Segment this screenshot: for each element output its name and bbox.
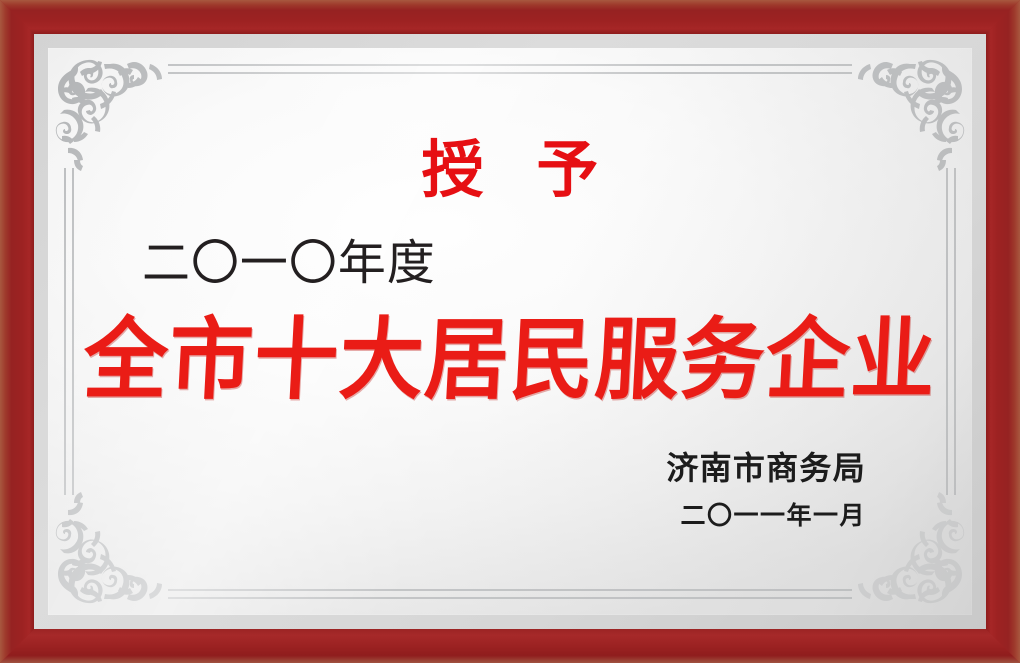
frame-left-edge	[0, 0, 34, 663]
certificate-panel: 授 予 二〇一〇年度 全市十大居民服务企业 济南市商务局 二〇一一年一月	[48, 48, 972, 615]
frame-right-edge	[986, 0, 1020, 663]
frame-top-edge	[0, 0, 1020, 34]
certificate-content: 授 予 二〇一〇年度 全市十大居民服务企业 济南市商务局 二〇一一年一月	[48, 48, 972, 615]
award-title-text: 全市十大居民服务企业	[48, 313, 972, 406]
award-year-text: 二〇一〇年度	[142, 240, 436, 288]
award-plaque: 授 予 二〇一〇年度 全市十大居民服务企业 济南市商务局 二〇一一年一月	[0, 0, 1020, 663]
frame-bottom-edge	[0, 629, 1020, 663]
issuing-authority-text: 济南市商务局	[666, 452, 866, 484]
award-verb-text: 授 予	[48, 140, 972, 202]
issue-date-text: 二〇一一年一月	[680, 504, 866, 529]
